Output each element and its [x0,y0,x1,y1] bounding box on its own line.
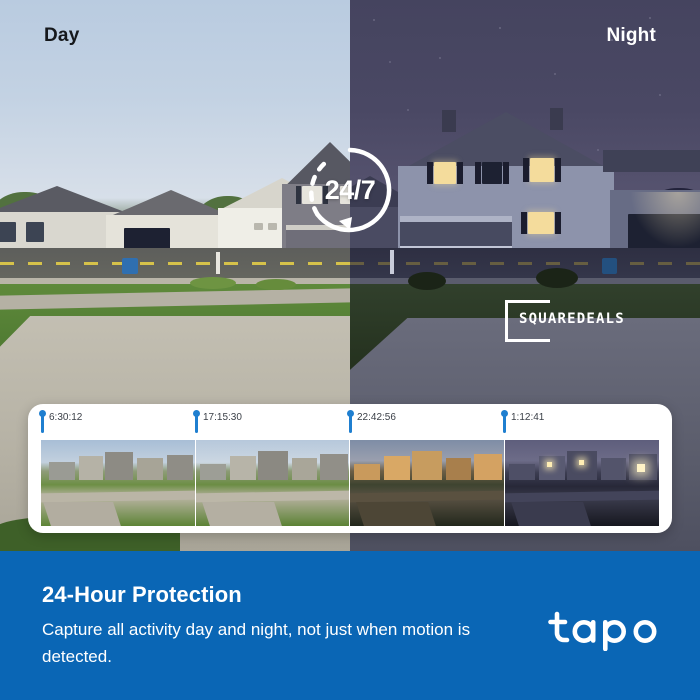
night-bush-a [408,272,446,290]
timeline-pin[interactable]: 1:12:41 [503,412,544,433]
pin-timestamp: 22:42:56 [357,412,396,424]
night-house-main [398,112,614,262]
night-garage-light [630,192,700,248]
timeline-clip[interactable] [196,440,351,526]
day-bush-b [256,279,296,290]
badge-label: 24/7 [303,143,397,237]
day-bush-a [190,277,236,289]
timeline-pin[interactable]: 6:30:12 [41,412,82,433]
day-recycling-bin [122,258,138,274]
timeline-card[interactable]: 6:30:12 17:15:30 22:42:56 1:12:41 [28,404,672,533]
night-center-line [350,262,700,265]
tapo-logo [548,609,664,651]
bottom-banner: 24-Hour Protection Capture all activity … [0,551,700,700]
banner-body: Capture all activity day and night, not … [42,616,512,670]
timeline-pin[interactable]: 17:15:30 [195,412,242,433]
pin-timestamp: 6:30:12 [49,412,82,424]
pin-timestamp: 17:15:30 [203,412,242,424]
squaredeals-watermark: SQUAREDEALS [505,300,630,342]
day-mailbox [216,252,220,274]
timeline-pin[interactable]: 22:42:56 [349,412,396,433]
timeline-clips [41,440,659,526]
badge-24-7: 24/7 [303,143,397,237]
day-center-line [0,262,350,265]
pin-marker-icon [41,412,44,433]
banner-heading: 24-Hour Protection [42,582,242,608]
tapo-wordmark-icon [548,609,664,651]
timeline-clip[interactable] [350,440,505,526]
timeline-pins: 6:30:12 17:15:30 22:42:56 1:12:41 [28,404,672,440]
night-bush-b [536,268,578,288]
pin-timestamp: 1:12:41 [511,412,544,424]
day-label: Day [44,25,79,47]
pin-marker-icon [503,412,506,433]
clip-thumbnail [196,440,350,526]
clip-thumbnail [350,440,504,526]
watermark-text: SQUAREDEALS [519,311,625,327]
promo-page: Day [0,0,700,700]
night-mailbox [390,250,394,274]
pin-marker-icon [195,412,198,433]
pin-marker-icon [349,412,352,433]
night-recycling-bin [602,258,617,274]
clip-thumbnail [41,440,195,526]
timeline-clip[interactable] [41,440,196,526]
timeline-clip[interactable] [505,440,660,526]
clip-thumbnail [505,440,660,526]
night-label: Night [606,25,656,47]
